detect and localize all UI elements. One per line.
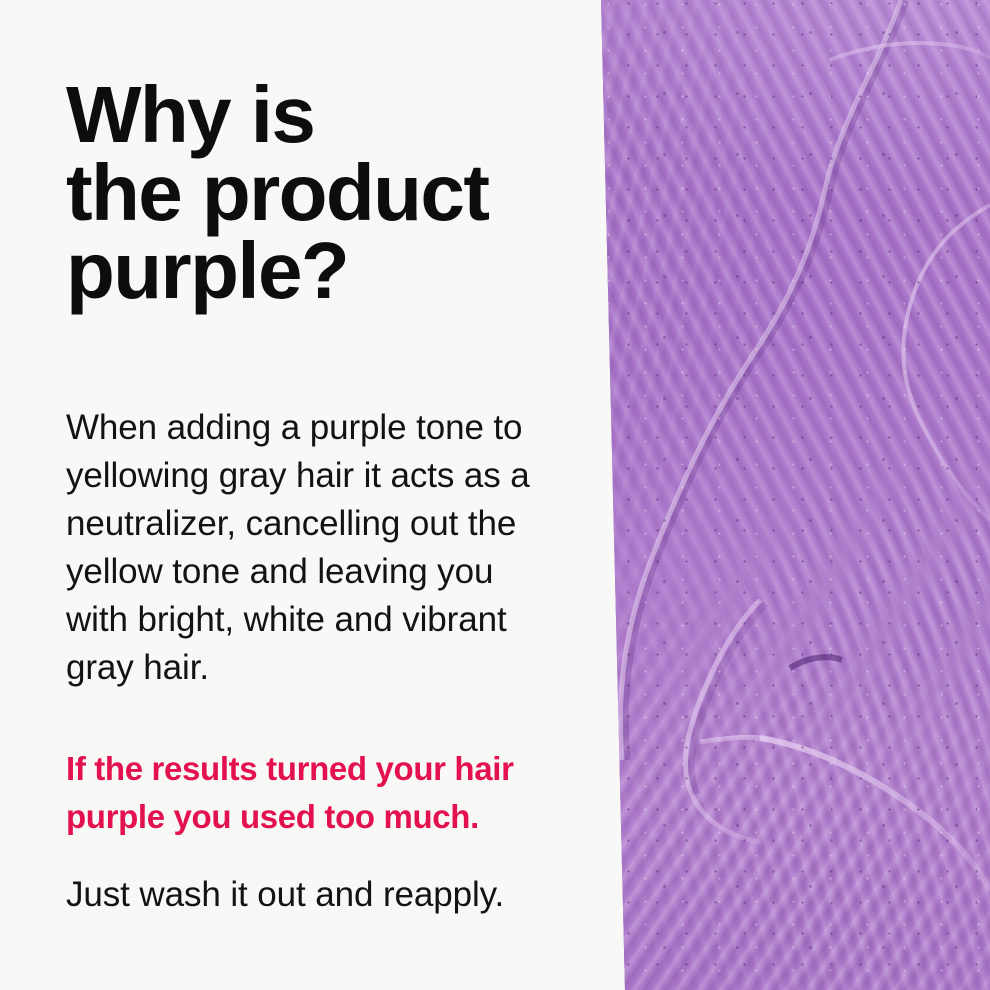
page-title: Why is the product purple?: [66, 76, 586, 310]
infographic-canvas: Why is the product purple? When adding a…: [0, 0, 990, 990]
warning-paragraph: If the results turned your hair purple y…: [66, 745, 586, 841]
text-panel: Why is the product purple? When adding a…: [0, 0, 601, 990]
closing-paragraph: Just wash it out and reapply.: [66, 871, 586, 919]
body-copy-block: When adding a purple tone to yellowing g…: [66, 404, 586, 692]
explanation-paragraph: When adding a purple tone to yellowing g…: [66, 404, 586, 692]
